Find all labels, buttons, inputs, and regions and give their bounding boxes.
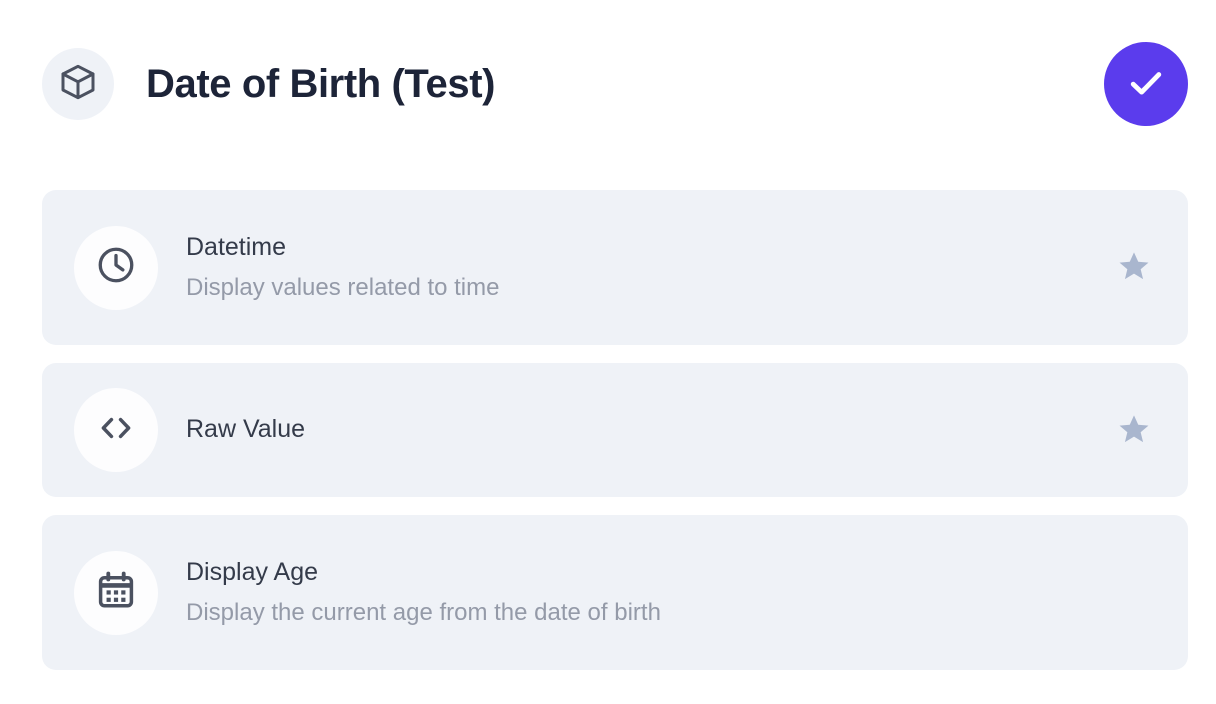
calendar-icon-container xyxy=(74,551,158,635)
code-icon xyxy=(95,407,137,454)
star-icon xyxy=(1117,412,1151,449)
calendar-icon xyxy=(95,569,137,616)
code-icon-container xyxy=(74,388,158,472)
option-list: Datetime Display values related to time xyxy=(42,190,1188,688)
list-item-raw-value[interactable]: Raw Value xyxy=(42,363,1188,497)
cube-icon-container xyxy=(42,48,114,120)
page-title: Date of Birth (Test) xyxy=(146,64,495,104)
option-title: Datetime xyxy=(186,232,1114,263)
option-title: Raw Value xyxy=(186,414,1114,445)
panel-header: Date of Birth (Test) xyxy=(42,38,1188,130)
star-toggle-datetime[interactable] xyxy=(1114,248,1154,288)
confirm-button[interactable] xyxy=(1104,42,1188,126)
cube-icon xyxy=(58,62,98,107)
star-toggle-raw-value[interactable] xyxy=(1114,410,1154,450)
option-text-block: Display Age Display the current age from… xyxy=(186,557,1114,628)
list-item-display-age[interactable]: Display Age Display the current age from… xyxy=(42,515,1188,670)
star-icon xyxy=(1117,249,1151,286)
clock-icon xyxy=(95,244,137,291)
star-slot-empty xyxy=(1114,573,1154,613)
option-text-block: Raw Value xyxy=(186,414,1114,445)
check-icon xyxy=(1124,61,1168,108)
option-title: Display Age xyxy=(186,557,1114,588)
option-description: Display the current age from the date of… xyxy=(186,598,1114,628)
list-item-datetime[interactable]: Datetime Display values related to time xyxy=(42,190,1188,345)
option-text-block: Datetime Display values related to time xyxy=(186,232,1114,303)
option-description: Display values related to time xyxy=(186,273,1114,303)
clock-icon-container xyxy=(74,226,158,310)
field-type-selector-panel: Date of Birth (Test) Dat xyxy=(0,0,1216,704)
